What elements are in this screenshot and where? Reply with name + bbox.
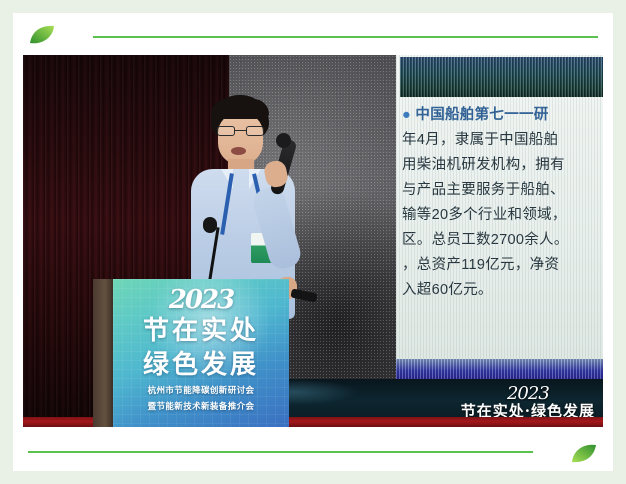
slide-line: 年4月，隶属于中国船舶 [402,128,603,153]
podium-subtitle-line-1: 杭州市节能降碳创新研讨会 [148,386,255,397]
conference-photo: ● 中国船舶第七一一研 年4月，隶属于中国船舶 用柴油机研发机构，拥有 与产品主… [23,55,603,427]
leaf-icon [29,25,55,45]
slide-line: 用柴油机研发机构，拥有 [402,153,603,178]
slide-line: 入超60亿元。 [402,278,603,303]
bullet-icon: ● [402,107,411,123]
podium-title-line-1: 节在实处 [143,315,259,347]
speaker-face [218,113,263,165]
speaker-fringe [211,99,269,119]
slide-image [400,57,603,97]
slide-line: ，总资产119亿元，净资 [402,253,603,278]
glasses-lens-right [246,126,264,136]
speaker-glasses [217,126,264,136]
desk-microphone-head [203,217,217,233]
glasses-lens-left [217,126,235,136]
divider-bottom [28,451,533,453]
podium-subtitle-line-2: 暨节能新技术新装备推介会 [148,402,255,413]
podium-side-panel [93,279,113,427]
podium: 2023 节在实处 绿色发展 杭州市节能降碳创新研讨会 暨节能新技术新装备推介会 [93,279,289,427]
photo-card: ● 中国船舶第七一一研 年4月，隶属于中国船舶 用柴油机研发机构，拥有 与产品主… [13,13,613,471]
leaf-icon [571,443,597,463]
podium-year-logo: 2023 [169,287,233,313]
slide-line: 与产品主要服务于船舶、 [402,178,603,203]
slide-text-block: ● 中国船舶第七一一研 年4月，隶属于中国船舶 用柴油机研发机构，拥有 与产品主… [402,103,603,303]
slide-heading-text: 中国船舶第七一一研 [415,107,548,123]
page-root: ● 中国船舶第七一一研 年4月，隶属于中国船舶 用柴油机研发机构，拥有 与产品主… [0,0,626,484]
slide-heading: ● 中国船舶第七一一研 [402,103,603,128]
divider-top [93,36,598,38]
podium-banner-content: 2023 节在实处 绿色发展 杭州市节能降碳创新研讨会 暨节能新技术新装备推介会 [113,279,289,427]
podium-title-line-2: 绿色发展 [143,349,259,381]
glasses-bridge [235,130,246,131]
stage-year-logo: 2023 [461,386,595,402]
projection-screen: ● 中国船舶第七一一研 年4月，隶属于中国船舶 用柴油机研发机构，拥有 与产品主… [396,55,603,393]
slide-line: 区。总员工数2700余人。 [402,228,603,253]
slide-line: 输等20多个行业和领域， [402,203,603,228]
stage-front-branding: 2023 节在实处·绿色发展 [461,386,595,421]
speaker-mouth [231,147,246,155]
podium-banner: 2023 节在实处 绿色发展 杭州市节能降碳创新研讨会 暨节能新技术新装备推介会 [113,279,289,427]
